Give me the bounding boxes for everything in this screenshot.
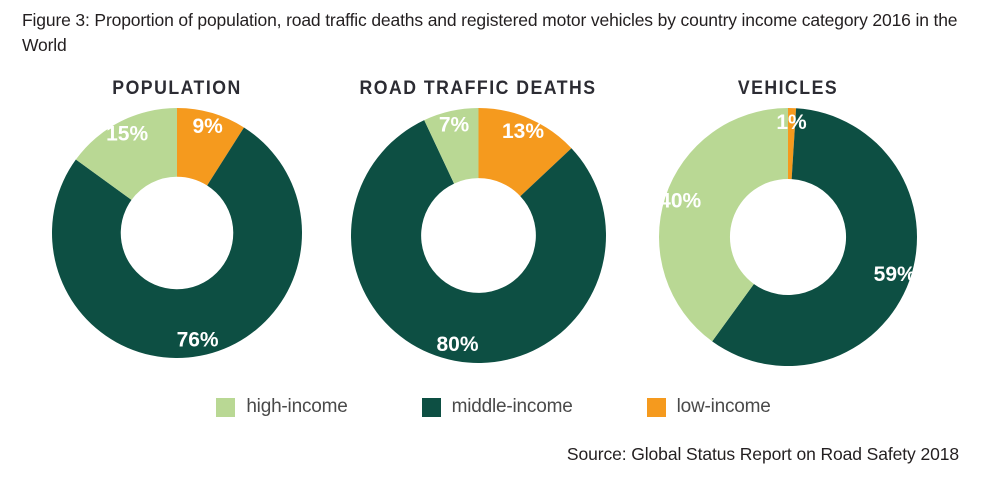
donut-svg: 9%76%15% [52,108,302,358]
slice-value-label: 59% [874,263,916,286]
donut-svg: 13%80%7% [351,108,606,363]
slice-value-label: 80% [436,333,478,356]
chart-legend: high-incomemiddle-incomelow-income [0,396,987,418]
donut-svg: 1%59%40% [659,108,917,366]
slice-value-label: 13% [501,120,543,143]
donut-chart-title: VEHICLES [649,78,928,100]
legend-item-high-income[interactable]: high-income [216,396,347,418]
legend-swatch-icon [216,398,235,417]
slice-value-label: 1% [776,111,807,134]
legend-label: low-income [677,396,771,418]
slice-value-label: 15% [106,123,148,146]
slice-value-label: 76% [177,328,219,351]
donut-chart-title: POPULATION [38,78,317,100]
slice-value-label: 40% [659,190,701,213]
donut-svg-wrapper: 1%59%40% [638,108,938,366]
figure-caption: Figure 3: Proportion of population, road… [22,8,962,58]
legend-label: middle-income [452,396,573,418]
donut-svg-wrapper: 13%80%7% [328,108,628,363]
donut-chart-title: ROAD TRAFFIC DEATHS [339,78,618,100]
source-attribution: Source: Global Status Report on Road Saf… [567,444,959,465]
slice-value-label: 7% [438,114,469,137]
legend-label: high-income [246,396,347,418]
slice-value-label: 9% [192,115,223,138]
legend-item-low-income[interactable]: low-income [647,396,771,418]
donut-svg-wrapper: 9%76%15% [27,108,327,358]
legend-swatch-icon [647,398,666,417]
legend-swatch-icon [422,398,441,417]
donut-charts-row: POPULATION9%76%15%ROAD TRAFFIC DEATHS13%… [0,78,987,388]
legend-item-middle-income[interactable]: middle-income [422,396,573,418]
